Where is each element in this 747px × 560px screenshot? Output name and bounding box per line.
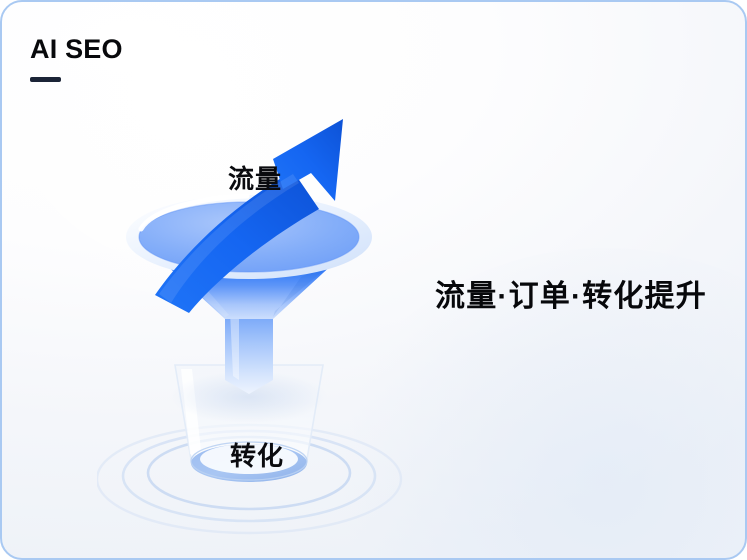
funnel-stem <box>225 309 273 394</box>
title-underline-rule <box>30 77 61 82</box>
label-conversion: 转化 <box>230 436 284 473</box>
label-traffic: 流量 <box>228 159 282 196</box>
illustration-card: AI SEO 流量·订单·转化提升 <box>0 0 747 560</box>
headline-text: 流量·订单·转化提升 <box>435 280 707 313</box>
page-title: AI SEO <box>30 36 123 63</box>
page-title-block: AI SEO <box>30 36 123 82</box>
